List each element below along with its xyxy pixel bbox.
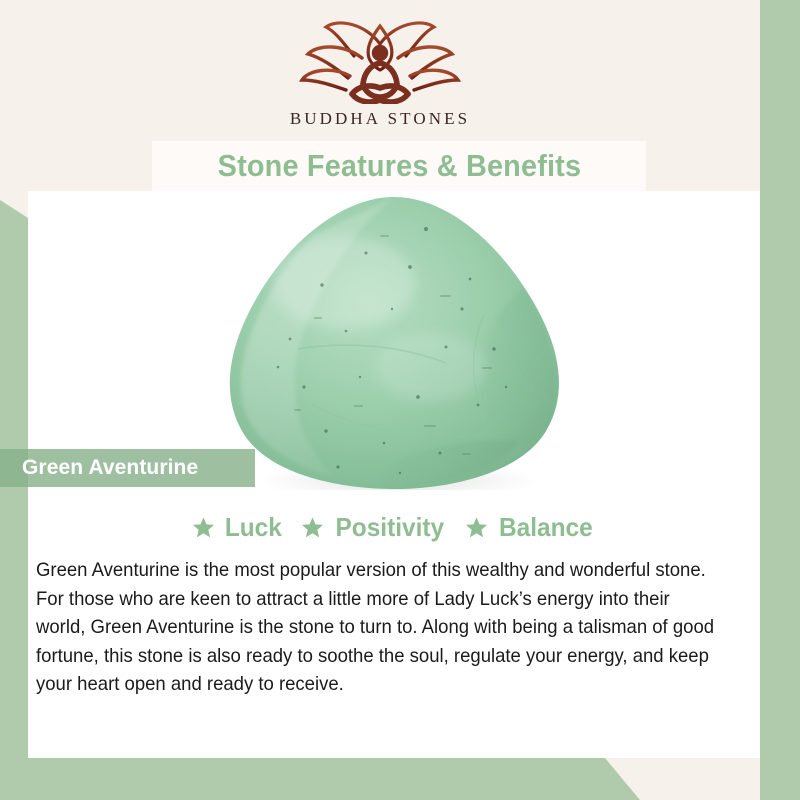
brand-name: BUDDHA STONES [290, 109, 470, 129]
brand-logo: BUDDHA STONES [0, 18, 760, 129]
description-text: Green Aventurine is the most popular ver… [36, 556, 720, 699]
lotus-meditation-figure-icon [292, 18, 468, 104]
hero-image [28, 191, 760, 490]
decor-frame-right [760, 0, 800, 800]
stone-name-text: Green Aventurine [0, 456, 198, 480]
title-banner: Stone Features & Benefits [152, 141, 646, 191]
benefit-label: Luck [225, 512, 282, 543]
header: BUDDHA STONES Stone Features & Benefits [0, 0, 760, 200]
content-panel: Luck Positivity Balance Green Aventurine… [28, 490, 760, 758]
star-icon [192, 516, 215, 539]
star-icon [301, 516, 324, 539]
benefits-row: Luck Positivity Balance [28, 512, 760, 543]
benefit-item: Positivity [301, 512, 448, 543]
benefit-item: Balance [465, 512, 596, 543]
star-icon [465, 516, 488, 539]
decor-frame-bottom [0, 758, 640, 800]
benefit-label: Balance [499, 512, 593, 543]
benefit-label: Positivity [336, 512, 445, 543]
green-aventurine-stone-graphic [194, 191, 594, 490]
stone-photo [28, 191, 760, 490]
page-title: Stone Features & Benefits [217, 148, 581, 184]
stone-name-label: Green Aventurine [0, 449, 255, 487]
infographic-page: BUDDHA STONES Stone Features & Benefits [0, 0, 800, 800]
benefit-item: Luck [192, 512, 284, 543]
